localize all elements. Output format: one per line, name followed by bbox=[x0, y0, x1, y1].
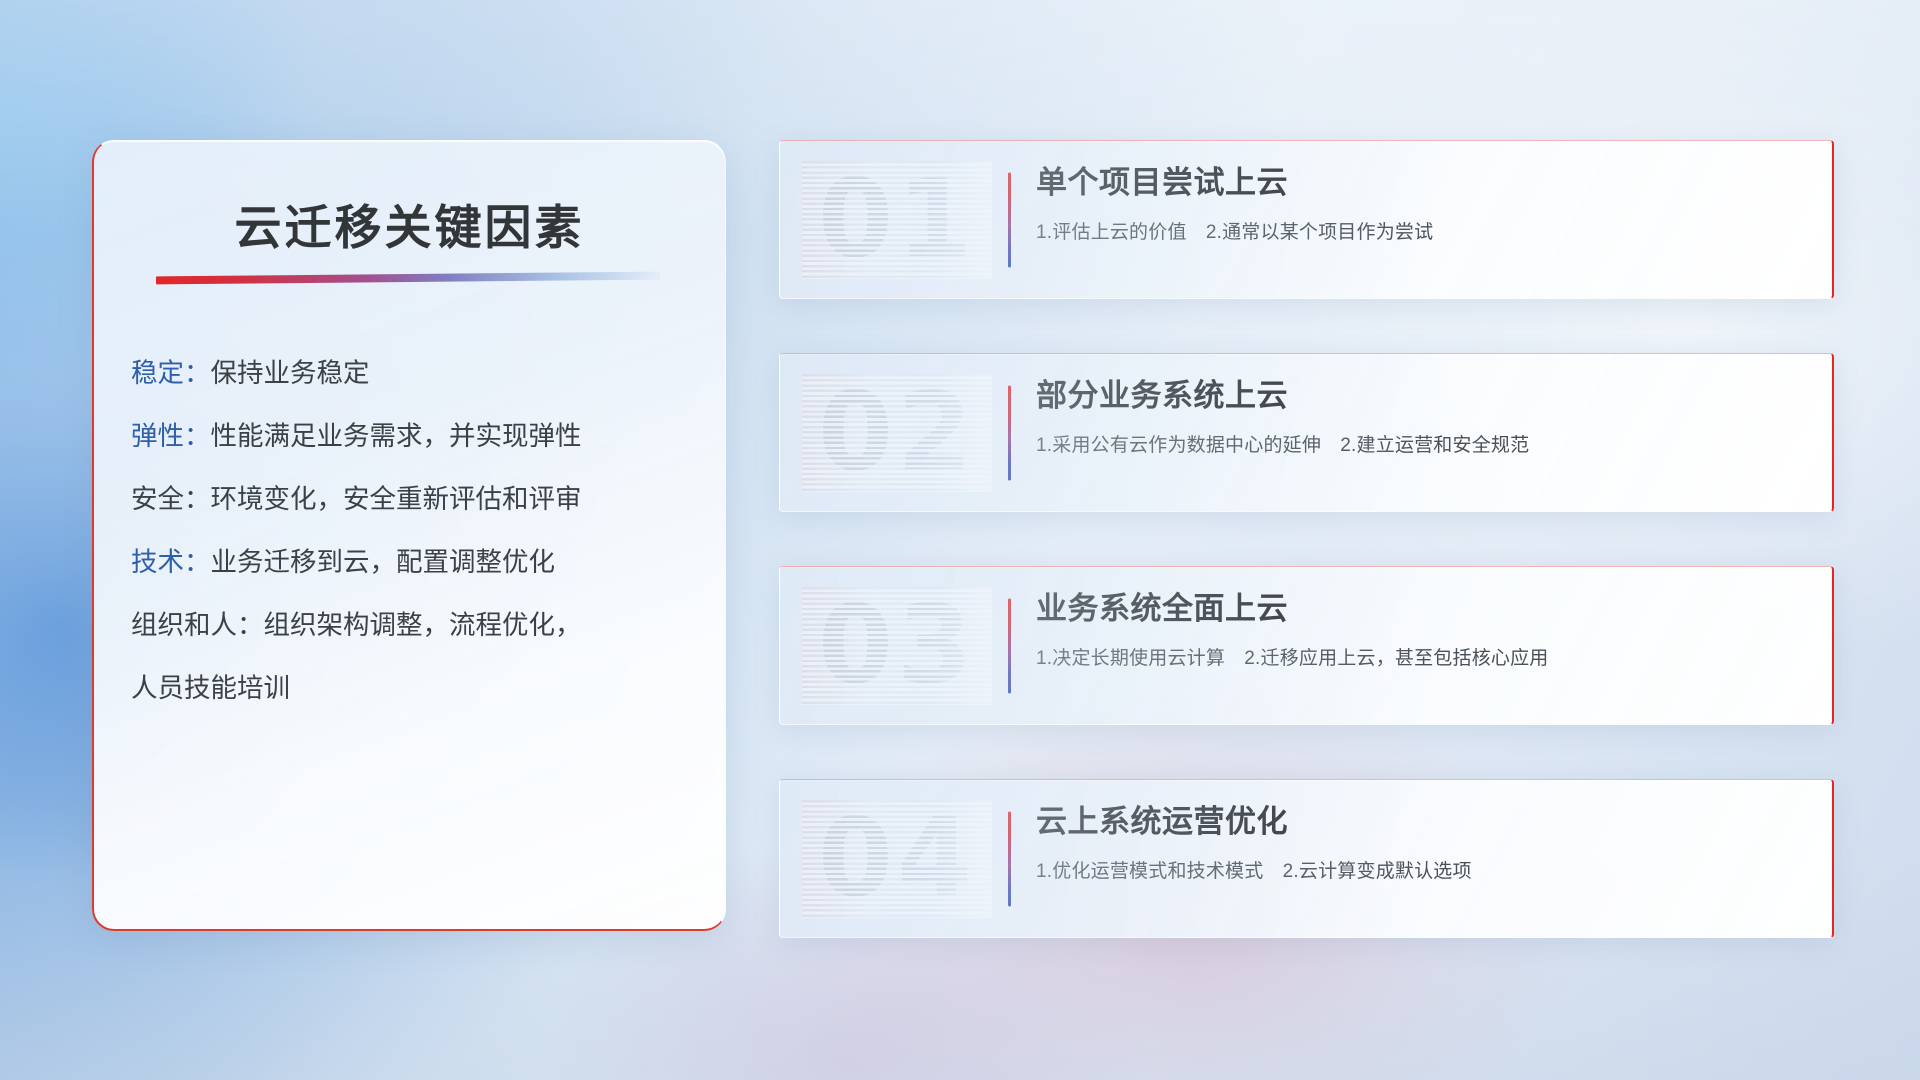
step-number-watermark: 02 bbox=[802, 374, 992, 492]
step-accent-bar bbox=[1008, 172, 1011, 267]
list-item: 弹性：性能满足业务需求，并实现弹性 bbox=[131, 436, 695, 437]
step-subtitle: 1.评估上云的价值 2.通常以某个项目作为尝试 bbox=[1036, 217, 1804, 244]
step-title: 部分业务系统上云 bbox=[1036, 378, 1804, 414]
key-factors-panel: 云迁移关键因素 稳定：保持业务稳定 弹性：性能满足业务需求，并实现弹性 安全：环… bbox=[92, 140, 726, 931]
key-factors-list: 稳定：保持业务稳定 弹性：性能满足业务需求，并实现弹性 安全：环境变化，安全重新… bbox=[131, 373, 695, 689]
list-item: 稳定：保持业务稳定 bbox=[131, 373, 695, 374]
step-subtitle: 1.决定长期使用云计算 2.迁移应用上云，甚至包括核心应用 bbox=[1036, 643, 1804, 670]
step-number-watermark: 04 bbox=[802, 800, 992, 918]
step-body: 部分业务系统上云 1.采用公有云作为数据中心的延伸 2.建立运营和安全规范 bbox=[1036, 378, 1804, 457]
list-item-label: 稳定： bbox=[131, 358, 211, 388]
step-number-text: 02 bbox=[802, 374, 992, 492]
step-accent-bar bbox=[1008, 811, 1011, 906]
migration-steps-list: 01 单个项目尝试上云 1.评估上云的价值 2.通常以某个项目作为尝试 02 部… bbox=[779, 140, 1834, 938]
title-underline-gradient bbox=[156, 272, 660, 285]
step-number-text: 04 bbox=[802, 800, 992, 918]
list-item-label: 弹性： bbox=[131, 421, 211, 451]
step-card[interactable]: 03 业务系统全面上云 1.决定长期使用云计算 2.迁移应用上云，甚至包括核心应… bbox=[779, 566, 1834, 725]
step-subtitle: 1.优化运营模式和技术模式 2.云计算变成默认选项 bbox=[1036, 856, 1804, 883]
step-number-text: 03 bbox=[802, 587, 992, 705]
list-item-text: 人员技能培训 bbox=[131, 673, 290, 703]
step-body: 云上系统运营优化 1.优化运营模式和技术模式 2.云计算变成默认选项 bbox=[1036, 804, 1804, 883]
step-number-text: 01 bbox=[802, 161, 992, 279]
list-item-text: 组织架构调整，流程优化， bbox=[264, 610, 582, 640]
list-item-text: 性能满足业务需求，并实现弹性 bbox=[211, 421, 582, 451]
step-body: 业务系统全面上云 1.决定长期使用云计算 2.迁移应用上云，甚至包括核心应用 bbox=[1036, 591, 1804, 670]
step-subtitle: 1.采用公有云作为数据中心的延伸 2.建立运营和安全规范 bbox=[1036, 430, 1804, 457]
list-item: 安全：环境变化，安全重新评估和评审 bbox=[131, 499, 695, 500]
step-number-watermark: 03 bbox=[802, 587, 992, 705]
list-item-label: 组织和人： bbox=[131, 610, 264, 640]
step-accent-bar bbox=[1008, 385, 1011, 480]
list-item-text: 环境变化，安全重新评估和评审 bbox=[211, 484, 582, 514]
list-item-label: 安全： bbox=[131, 484, 211, 514]
list-item-text: 业务迁移到云，配置调整优化 bbox=[211, 547, 556, 577]
step-accent-bar bbox=[1008, 598, 1011, 693]
step-number-watermark: 01 bbox=[802, 161, 992, 279]
list-item-label: 技术： bbox=[131, 547, 211, 577]
step-title: 云上系统运营优化 bbox=[1036, 804, 1804, 840]
panel-title: 云迁移关键因素 bbox=[94, 189, 725, 258]
step-card[interactable]: 04 云上系统运营优化 1.优化运营模式和技术模式 2.云计算变成默认选项 bbox=[779, 779, 1834, 938]
step-card[interactable]: 01 单个项目尝试上云 1.评估上云的价值 2.通常以某个项目作为尝试 bbox=[779, 140, 1834, 299]
list-item-continuation: 人员技能培训 bbox=[131, 688, 695, 689]
list-item: 组织和人：组织架构调整，流程优化， bbox=[131, 625, 695, 626]
list-item: 技术：业务迁移到云，配置调整优化 bbox=[131, 562, 695, 563]
step-title: 单个项目尝试上云 bbox=[1036, 165, 1804, 201]
step-title: 业务系统全面上云 bbox=[1036, 591, 1804, 627]
list-item-text: 保持业务稳定 bbox=[211, 358, 370, 388]
step-body: 单个项目尝试上云 1.评估上云的价值 2.通常以某个项目作为尝试 bbox=[1036, 165, 1804, 244]
step-card[interactable]: 02 部分业务系统上云 1.采用公有云作为数据中心的延伸 2.建立运营和安全规范 bbox=[779, 353, 1834, 512]
